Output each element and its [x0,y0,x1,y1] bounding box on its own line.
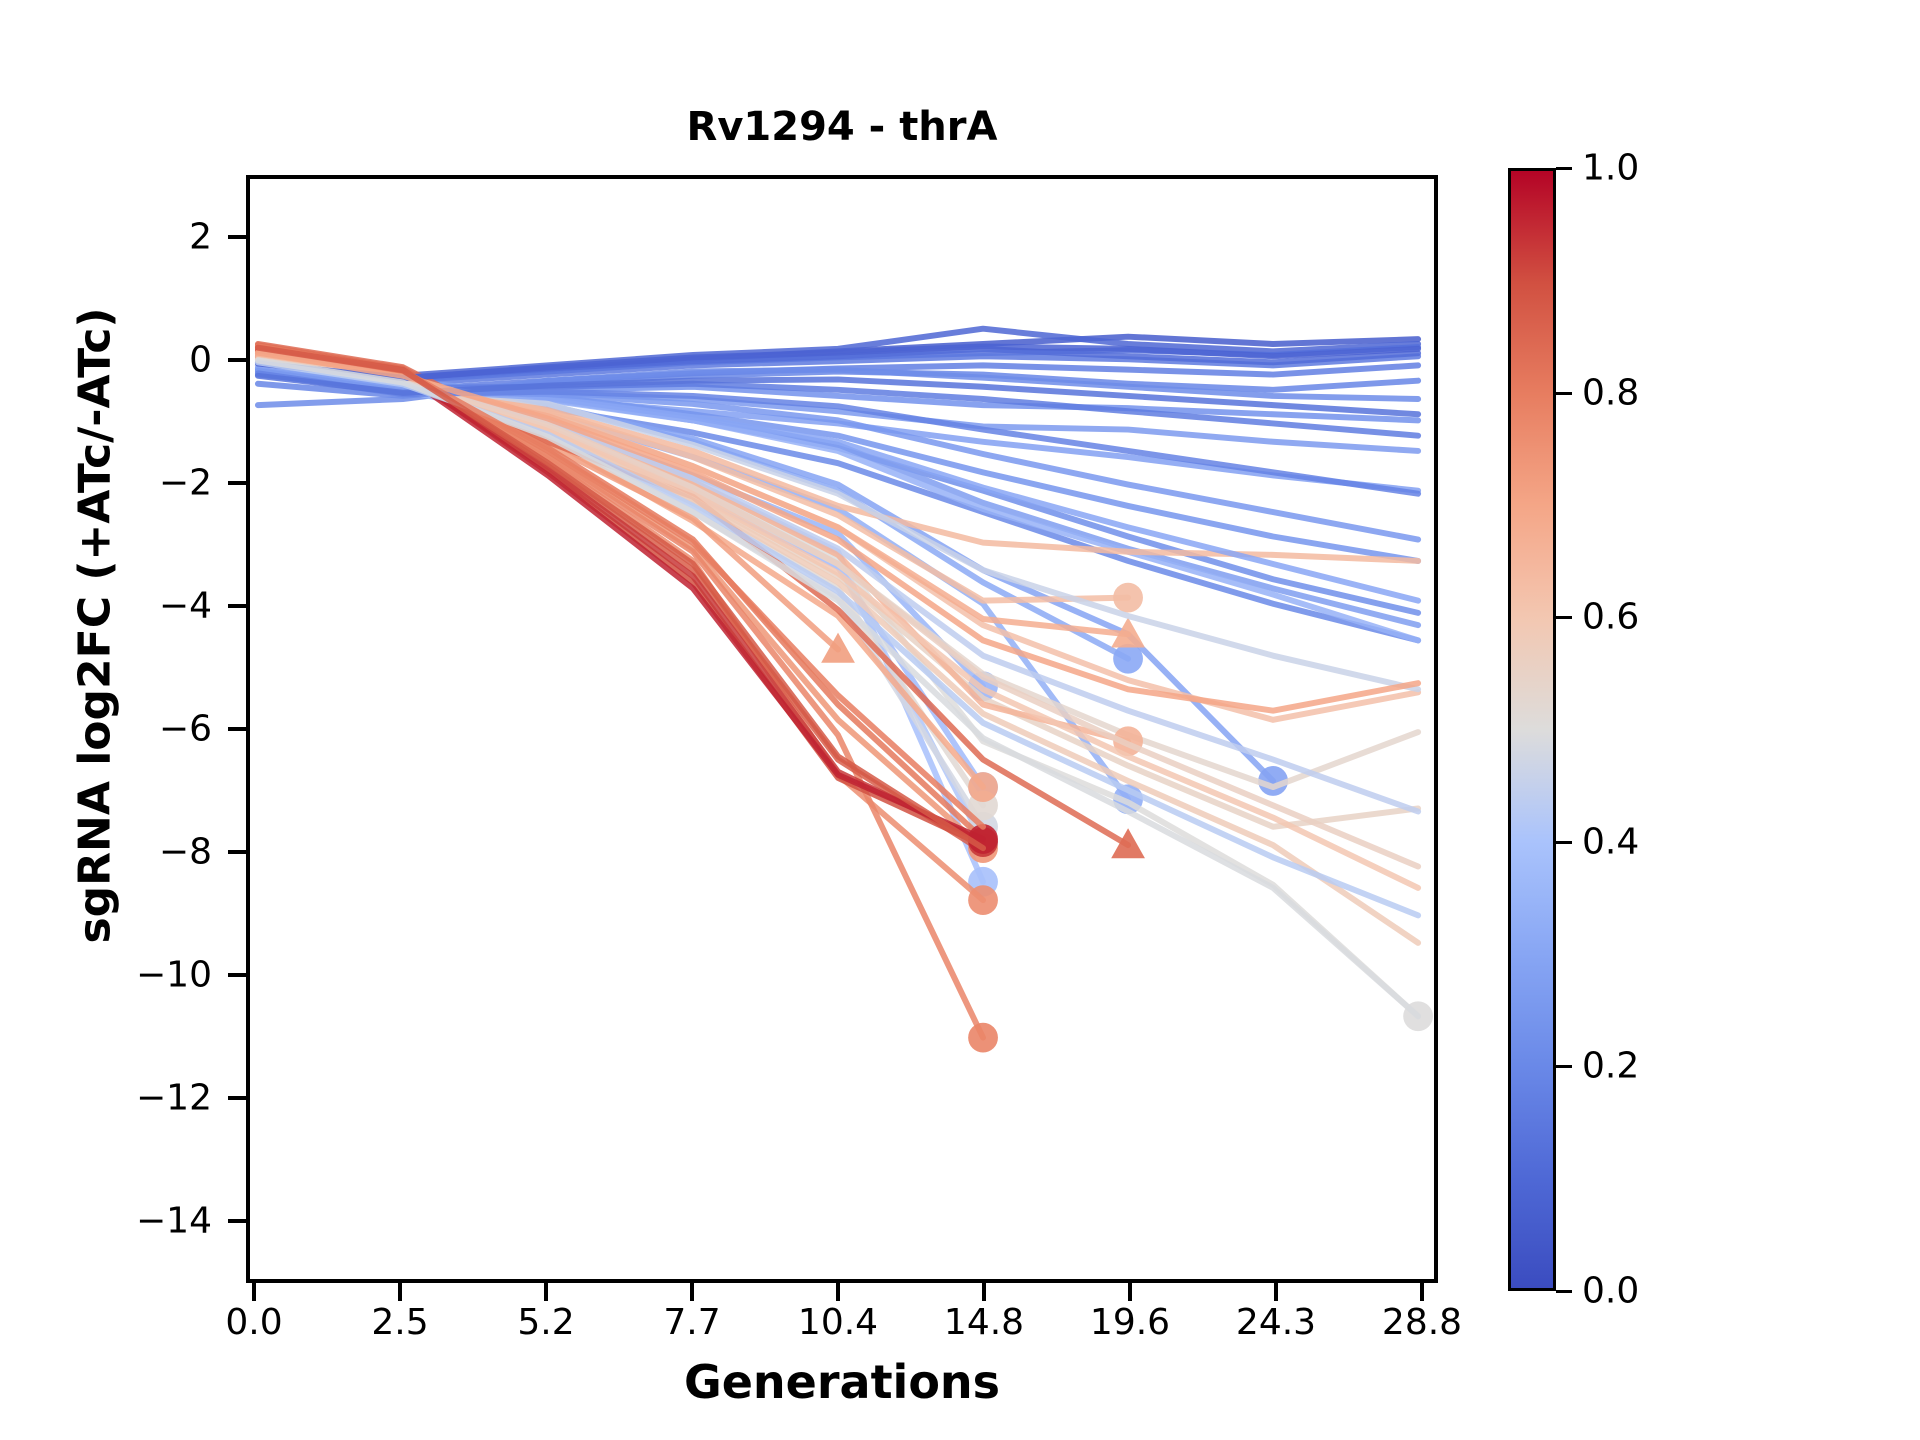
x-tick-mark [1128,1283,1132,1301]
colorbar-tick-label: 0.4 [1582,821,1639,862]
colorbar-tick-mark [1556,167,1572,170]
y-tick-mark [228,481,246,485]
series-endpoint-marker [968,1023,998,1053]
colorbar [1508,168,1556,1291]
colorbar-tick-mark [1556,1065,1572,1068]
series-endpoint-marker [1113,583,1143,613]
colorbar-tick-mark [1556,1290,1572,1293]
y-tick-mark [228,850,246,854]
y-tick-label: −10 [0,955,212,996]
x-tick-label: 0.0 [225,1302,282,1343]
y-tick-mark [228,1219,246,1223]
colorbar-tick-label: 1.0 [1582,148,1639,189]
y-tick-label: −12 [0,1078,212,1119]
y-tick-mark [228,1096,246,1100]
chart-title: Rv1294 - thrA [246,104,1438,150]
series-endpoint-marker [1111,828,1145,858]
colorbar-tick-mark [1556,392,1572,395]
y-tick-label: −4 [0,585,212,626]
x-tick-mark [1420,1283,1424,1301]
series-endpoint-marker [968,772,998,802]
y-tick-label: −2 [0,462,212,503]
y-tick-mark [228,235,246,239]
series-endpoint-marker [968,885,998,915]
x-tick-mark [398,1283,402,1301]
series-line [258,356,1418,1016]
y-tick-label: 0 [0,339,212,380]
series-line [258,361,1418,1017]
colorbar-tick-label: 0.6 [1582,597,1639,638]
colorbar-tick-mark [1556,841,1572,844]
x-tick-mark [982,1283,986,1301]
y-tick-label: 2 [0,216,212,257]
x-tick-mark [252,1283,256,1301]
x-tick-label: 2.5 [371,1302,428,1343]
colorbar-tick-label: 0.0 [1582,1271,1639,1312]
colorbar-tick-label: 0.2 [1582,1046,1639,1087]
y-tick-mark [228,727,246,731]
y-tick-label: −6 [0,709,212,750]
chart-figure: Rv1294 - thrA sgRNA log2FC (+ATc/-ATc) G… [0,0,1920,1440]
x-tick-mark [836,1283,840,1301]
x-axis-label: Generations [246,1355,1438,1409]
x-tick-label: 19.6 [1090,1302,1170,1343]
y-tick-mark [228,358,246,362]
y-tick-label: −14 [0,1201,212,1242]
x-tick-mark [544,1283,548,1301]
x-tick-label: 14.8 [944,1302,1024,1343]
x-tick-mark [690,1283,694,1301]
x-tick-label: 28.8 [1382,1302,1462,1343]
x-tick-label: 10.4 [798,1302,878,1343]
x-tick-mark [1274,1283,1278,1301]
x-tick-label: 24.3 [1236,1302,1316,1343]
colorbar-tick-mark [1556,616,1572,619]
x-tick-label: 7.7 [663,1302,720,1343]
colorbar-gradient [1508,168,1556,1291]
plot-area [246,175,1438,1283]
colorbar-tick-label: 0.8 [1582,372,1639,413]
y-tick-mark [228,973,246,977]
series-plot [250,179,1434,1279]
y-tick-label: −8 [0,832,212,873]
y-tick-mark [228,604,246,608]
x-tick-label: 5.2 [517,1302,574,1343]
